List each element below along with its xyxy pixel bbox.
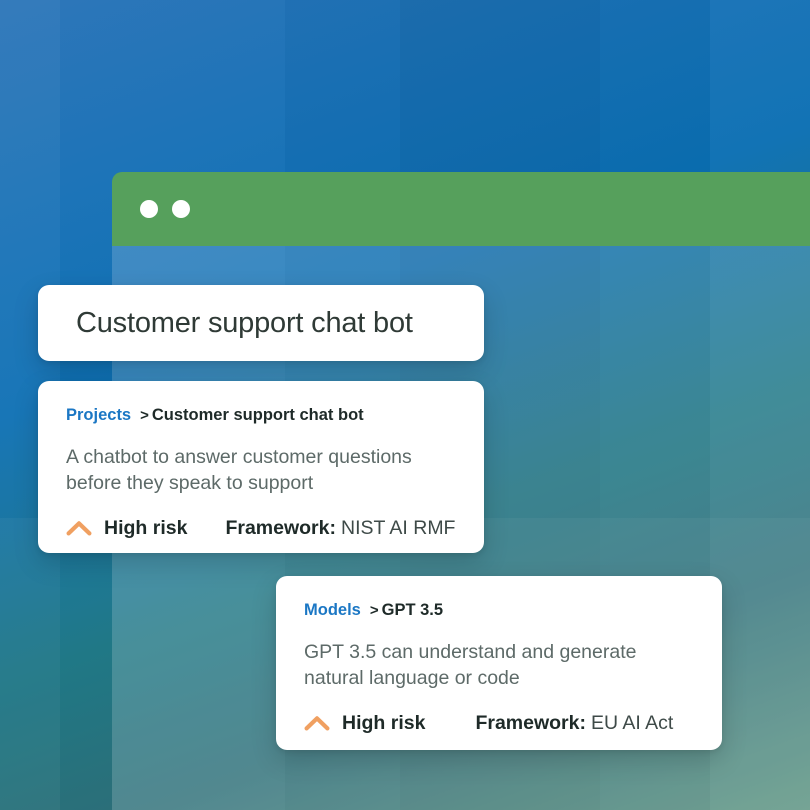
risk-level-label: High risk <box>342 712 425 735</box>
project-meta-row: High risk Framework:NIST AI RMF <box>66 517 456 540</box>
chevron-up-icon <box>66 520 92 536</box>
window-titlebar <box>112 172 810 246</box>
model-meta-row: High risk Framework:EU AI Act <box>304 712 694 735</box>
risk-status-badge: High risk <box>66 517 187 540</box>
project-description: A chatbot to answer customer questions b… <box>66 444 446 497</box>
framework-key-label: Framework: <box>225 517 336 539</box>
breadcrumb-parent-link[interactable]: Projects <box>66 406 131 424</box>
chevron-up-icon <box>304 715 330 731</box>
breadcrumb-current: Customer support chat bot <box>152 406 364 424</box>
breadcrumb-parent-link[interactable]: Models <box>304 601 361 619</box>
illustration-canvas: Customer support chat bot Projects>Custo… <box>0 0 810 810</box>
project-title-card[interactable]: Customer support chat bot <box>38 285 484 361</box>
model-description: GPT 3.5 can understand and generate natu… <box>304 639 684 692</box>
framework-value: NIST AI RMF <box>341 517 456 539</box>
framework-field: Framework:NIST AI RMF <box>225 517 455 540</box>
window-dot-one[interactable] <box>140 200 158 218</box>
breadcrumb: Projects>Customer support chat bot <box>66 407 456 424</box>
breadcrumb-current: GPT 3.5 <box>382 601 443 619</box>
window-dot-two[interactable] <box>172 200 190 218</box>
breadcrumb-separator: > <box>140 407 149 424</box>
framework-value: EU AI Act <box>591 712 673 734</box>
risk-level-label: High risk <box>104 517 187 540</box>
risk-status-badge: High risk <box>304 712 425 735</box>
page-title: Customer support chat bot <box>76 307 413 340</box>
model-detail-card[interactable]: Models>GPT 3.5 GPT 3.5 can understand an… <box>276 576 722 750</box>
project-detail-card[interactable]: Projects>Customer support chat bot A cha… <box>38 381 484 553</box>
framework-key-label: Framework: <box>475 712 586 734</box>
breadcrumb: Models>GPT 3.5 <box>304 602 694 619</box>
framework-field: Framework:EU AI Act <box>475 712 673 735</box>
breadcrumb-separator: > <box>370 602 379 619</box>
